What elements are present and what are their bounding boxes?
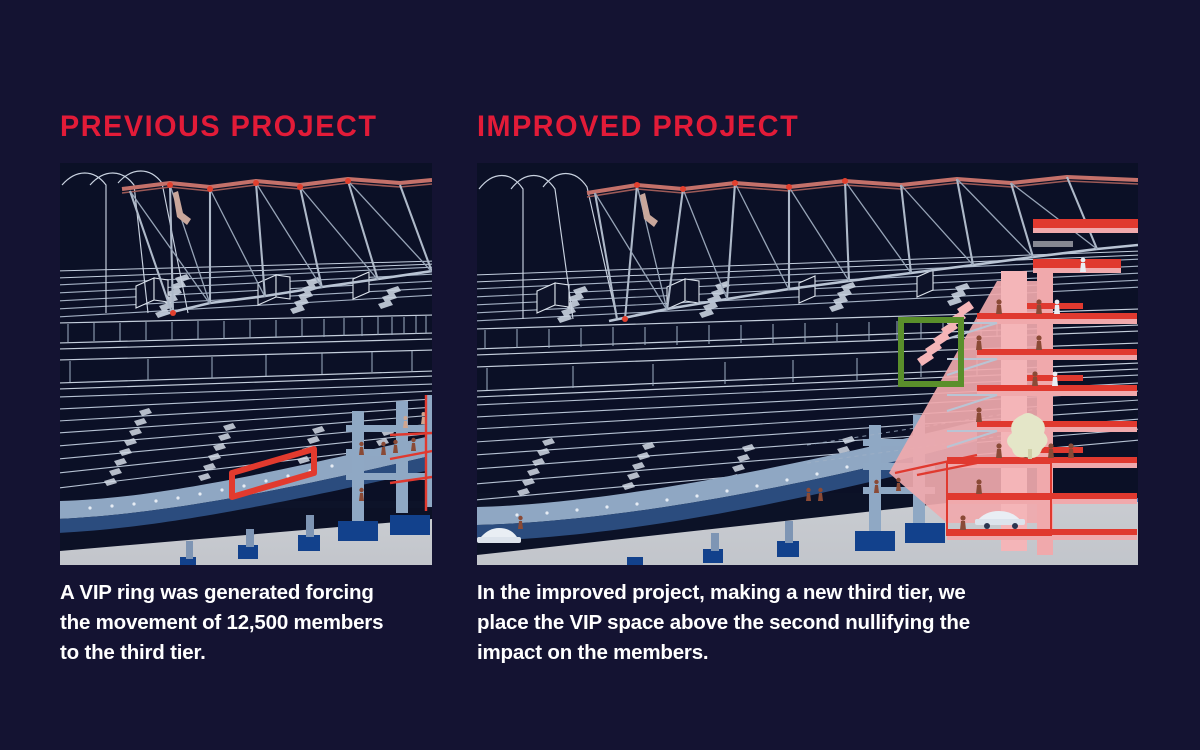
- panel-title-previous: PREVIOUS PROJECT: [60, 110, 377, 144]
- stadium-section-previous: [60, 163, 432, 565]
- slide-canvas: PREVIOUS PROJECT: [0, 0, 1200, 750]
- caption-improved: In the improved project, making a new th…: [477, 578, 1022, 668]
- stadium-section-improved: [477, 163, 1138, 565]
- figure-previous-project: [60, 163, 432, 565]
- figure-improved-project: [477, 163, 1138, 565]
- caption-previous: A VIP ring was generated forcing the mov…: [60, 578, 440, 668]
- panel-title-improved: IMPROVED PROJECT: [477, 110, 799, 144]
